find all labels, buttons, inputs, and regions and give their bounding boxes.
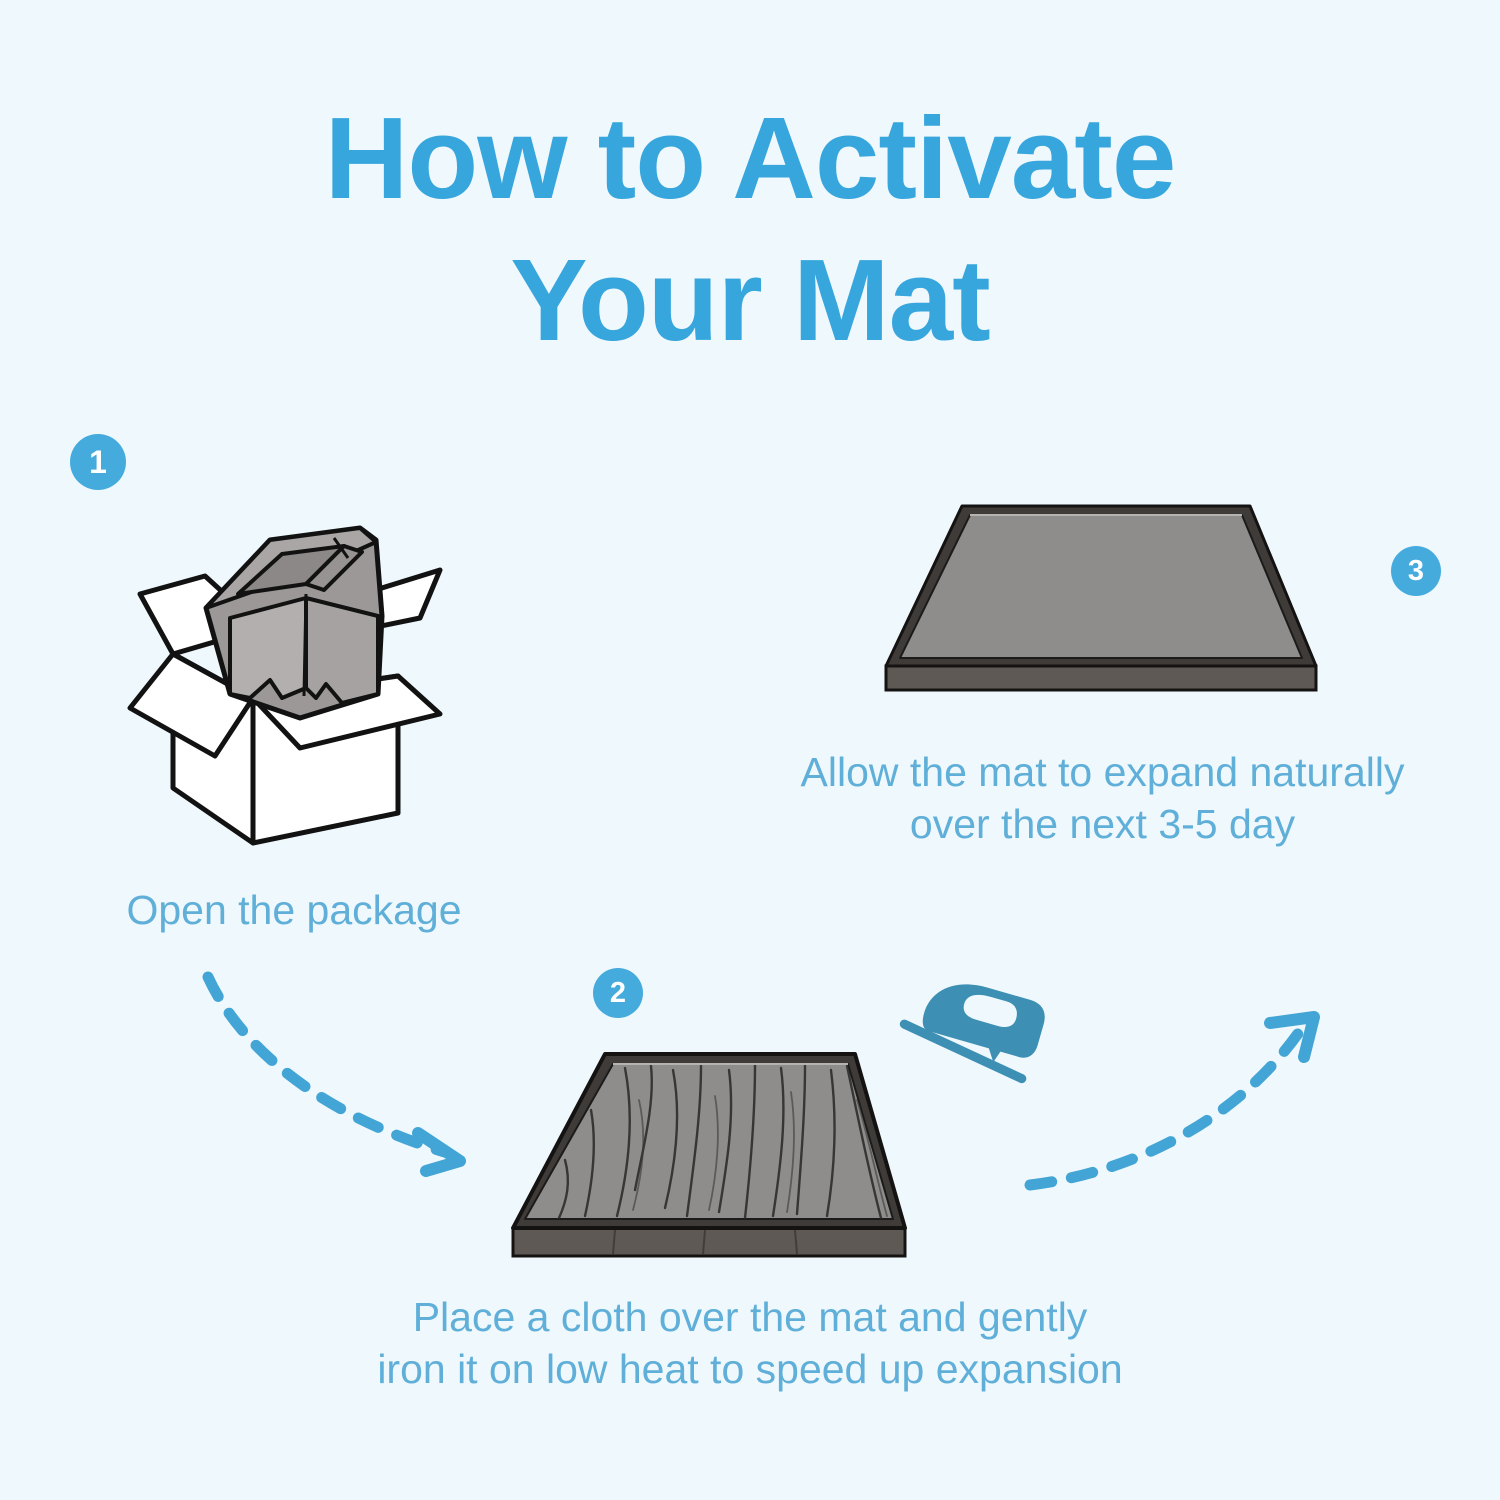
expanded-mat-illustration: [858, 488, 1344, 700]
step-badge-1: 1: [70, 434, 126, 490]
arrow-step1-to-step2: [180, 965, 510, 1200]
page-title-line-2: Your Mat: [0, 230, 1500, 372]
step-3-caption-line-2: over the next 3-5 day: [705, 798, 1500, 850]
infographic-page: How to Activate Your Mat 1: [0, 0, 1500, 1500]
step-2-caption-line-2: iron it on low heat to speed up expansio…: [240, 1343, 1260, 1395]
flat-mat-icon: [858, 488, 1344, 700]
open-box-icon: [110, 498, 490, 860]
arrow-step2-to-step3: [1018, 995, 1348, 1235]
step-1-caption-line-1: Open the package: [0, 884, 588, 936]
step-badge-2: 2: [593, 968, 643, 1018]
step-3-caption-line-1: Allow the mat to expand naturally: [705, 746, 1500, 798]
open-box-illustration: [110, 498, 490, 860]
dashed-curved-arrow-up-right-icon: [1018, 995, 1348, 1235]
step-2-caption: Place a cloth over the mat and gently ir…: [240, 1291, 1260, 1396]
step-3-caption: Allow the mat to expand naturally over t…: [705, 746, 1500, 851]
step-badge-3: 3: [1391, 546, 1441, 596]
step-1-caption: Open the package: [0, 884, 588, 936]
page-title-line-1: How to Activate: [0, 88, 1500, 230]
step-2-caption-line-1: Place a cloth over the mat and gently: [240, 1291, 1260, 1343]
page-title: How to Activate Your Mat: [0, 88, 1500, 371]
dashed-curved-arrow-down-right-icon: [180, 965, 510, 1200]
